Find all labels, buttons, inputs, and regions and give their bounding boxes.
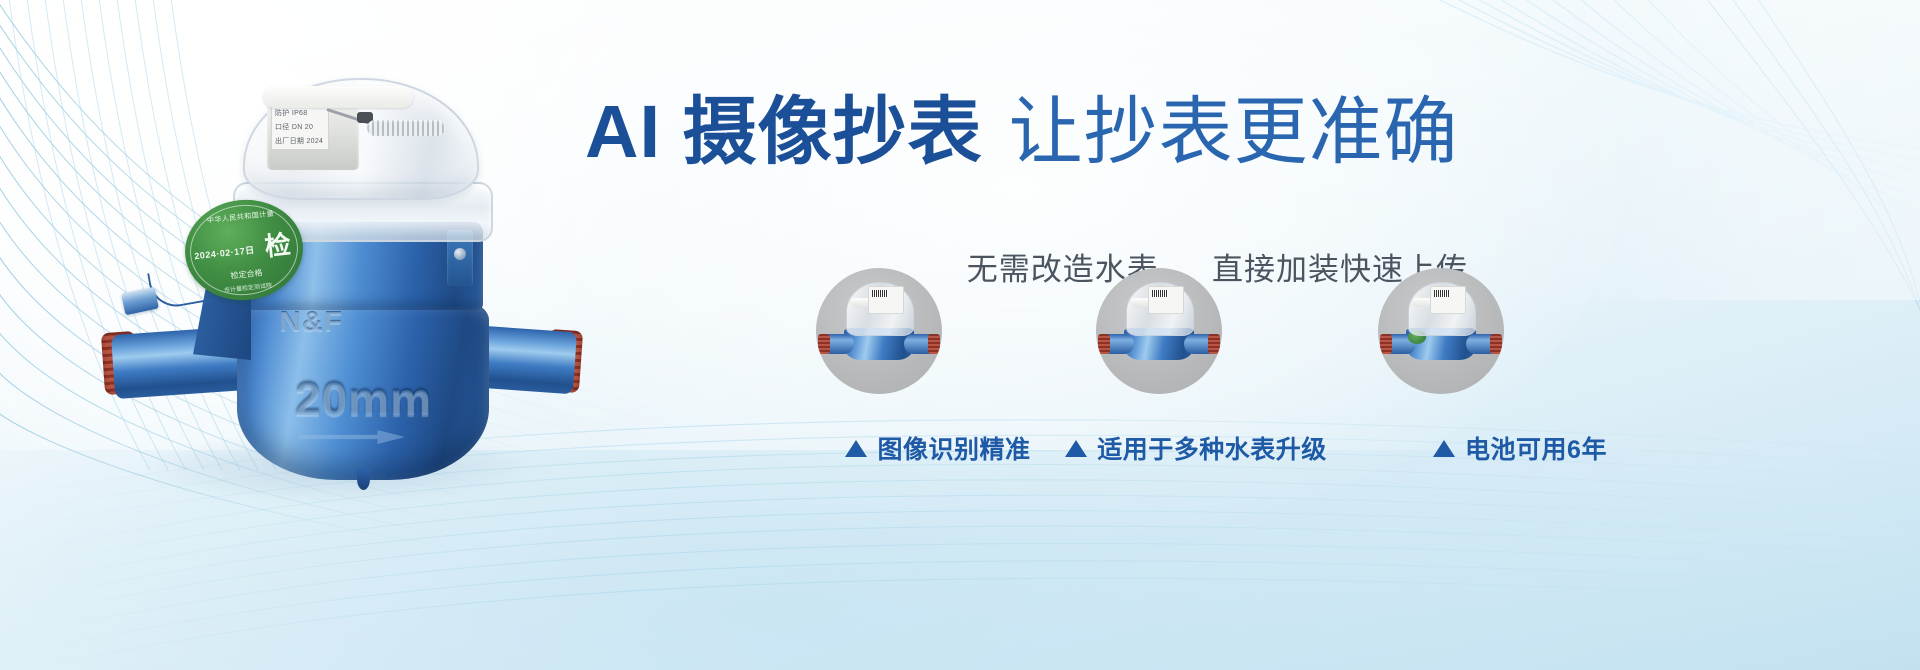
feature-thumbnail-2 bbox=[1378, 268, 1504, 394]
mini-thread-right-icon bbox=[928, 334, 940, 354]
drain-nipple bbox=[357, 468, 370, 490]
mini-thread-left-icon bbox=[1098, 334, 1110, 354]
mini-thread-right-icon bbox=[1490, 334, 1502, 354]
antenna-coil-icon bbox=[367, 120, 445, 136]
banner-headline: AI 摄像抄表让抄表更准确 bbox=[585, 95, 1459, 169]
mini-thread-left-icon bbox=[818, 334, 830, 354]
feature-caption-2: 电池可用6年 bbox=[1370, 430, 1670, 466]
size-emboss-text: 20mm bbox=[295, 372, 432, 426]
feature-caption-text-1: 适用于多种水表升级 bbox=[1097, 436, 1327, 464]
promo-banner: N&F 20mm 防护 IP68 口径 DN 20 出厂日期 2024年02月 … bbox=[0, 0, 1920, 670]
hero-product-image: N&F 20mm 防护 IP68 口径 DN 20 出厂日期 2024年02月 … bbox=[95, 72, 575, 502]
wire-seal-lock-icon bbox=[121, 287, 159, 316]
meter-spec-label: 防护 IP68 口径 DN 20 出厂日期 2024年02月 bbox=[271, 104, 329, 150]
brand-emboss-text: N&F bbox=[279, 306, 343, 338]
feature-list: 图像识别精准 适用于多种水表升级 bbox=[760, 268, 1890, 558]
sticker-big-char: 检 bbox=[263, 231, 292, 260]
feature-item-meter-compatibility[interactable]: 适用于多种水表升级 bbox=[1028, 268, 1328, 394]
triangle-up-icon bbox=[1065, 440, 1087, 457]
feature-thumbnail-0 bbox=[816, 268, 942, 394]
triangle-up-icon bbox=[845, 440, 867, 457]
spec-line-3: 出厂日期 2024年02月 bbox=[275, 135, 325, 150]
mini-barcode-label bbox=[1148, 286, 1184, 314]
triangle-up-icon bbox=[1433, 440, 1455, 457]
camera-module-bar bbox=[263, 86, 413, 108]
feature-thumbnail-1 bbox=[1096, 268, 1222, 394]
feature-item-image-recognition[interactable]: 图像识别精准 bbox=[760, 268, 1060, 394]
feature-caption-text-2: 电池可用6年 bbox=[1465, 436, 1607, 464]
spec-line-1: 防护 IP68 bbox=[275, 107, 325, 121]
spec-line-2: 口径 DN 20 bbox=[275, 121, 325, 135]
mini-barcode-label bbox=[1430, 286, 1466, 314]
feature-caption-text-0: 图像识别精准 bbox=[877, 436, 1030, 464]
mini-thread-left-icon bbox=[1380, 334, 1392, 354]
feature-caption-0: 图像识别精准 bbox=[788, 430, 1088, 466]
feature-item-battery-life[interactable]: 电池可用6年 bbox=[1312, 268, 1612, 394]
mini-thread-right-icon bbox=[1208, 334, 1220, 354]
mini-barcode-label bbox=[868, 286, 904, 314]
headline-primary: AI 摄像抄表 bbox=[585, 90, 983, 173]
feature-caption-1: 适用于多种水表升级 bbox=[1046, 430, 1346, 466]
headline-secondary: 让抄表更准确 bbox=[1009, 90, 1459, 173]
